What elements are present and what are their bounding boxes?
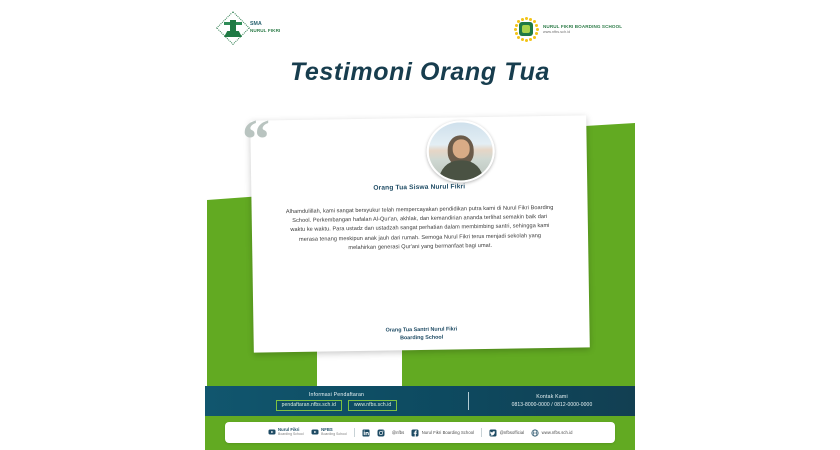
- social-handle-instagram[interactable]: @nfbs: [392, 430, 404, 435]
- testimonial-body-text: Alhamdulillah, kami sangat bersyukur tel…: [286, 204, 555, 254]
- social-item-facebook[interactable]: Nurul Fikri Boarding School: [411, 429, 474, 437]
- social-item-website[interactable]: www.nfbs.sch.id: [531, 429, 572, 437]
- contact-bar: Informasi Pendaftaran pendaftaran.nfbs.s…: [205, 386, 635, 416]
- contact-right-label: Kontak Kami: [477, 394, 627, 400]
- logo-sma-nurul-fikri: SMA NURUL FIKRI: [220, 15, 280, 41]
- header-logo-row: SMA NURUL FIKRI NURUL FIKRI BO: [205, 12, 635, 46]
- social-divider-1: [354, 428, 355, 437]
- testimonial-card: Orang Tua Siswa Nurul Fikri Alhamdulilla…: [250, 115, 590, 352]
- instagram-icon[interactable]: [377, 429, 385, 437]
- testimonial-author-name: Orang Tua Siswa Nurul Fikri: [251, 181, 587, 193]
- social-item-twitter[interactable]: @nfbsofficial: [489, 429, 524, 437]
- social-handle-website: www.nfbs.sch.id: [542, 430, 573, 435]
- logo-left-text: SMA NURUL FIKRI: [250, 22, 280, 33]
- contact-left-label: Informasi Pendaftaran: [213, 392, 460, 398]
- social-divider-2: [481, 428, 482, 437]
- logo-left-line2: NURUL FIKRI: [250, 28, 280, 33]
- logo-right-line2: www.nfbs.sch.id: [543, 30, 622, 34]
- linkedin-icon[interactable]: [362, 429, 370, 437]
- social-item-youtube-2[interactable]: NFBS Boarding School: [311, 428, 347, 437]
- contact-chip-website[interactable]: www.nfbs.sch.id: [348, 400, 397, 411]
- logo-right-text: NURUL FIKRI BOARDING SCHOOL www.nfbs.sch…: [543, 24, 622, 33]
- youtube-icon: [311, 428, 319, 436]
- web-icon: [531, 429, 539, 437]
- social-handle-facebook: Nurul Fikri Boarding School: [422, 430, 474, 435]
- page-title: Testimoni Orang Tua: [205, 58, 635, 87]
- social-sub-0: Boarding School: [278, 433, 304, 437]
- sunburst-logo-icon: [513, 16, 539, 42]
- youtube-icon: [268, 428, 276, 436]
- logo-nfbs: NURUL FIKRI BOARDING SCHOOL www.nfbs.sch…: [513, 16, 622, 42]
- quote-mark-icon: “: [242, 112, 270, 168]
- social-bar: Nurul Fikri Boarding School NFBS Boardin…: [225, 422, 615, 443]
- contact-right-group: Kontak Kami 0813-8000-0000 / 0812-0000-0…: [477, 394, 635, 408]
- screenshot-canvas: SMA NURUL FIKRI NURUL FIKRI BO: [0, 0, 840, 450]
- testimonial-poster: SMA NURUL FIKRI NURUL FIKRI BO: [205, 0, 635, 450]
- avatar: [426, 120, 495, 183]
- social-sub-1: Boarding School: [321, 433, 347, 437]
- social-handle-twitter: @nfbsofficial: [500, 430, 525, 435]
- contact-left-group: Informasi Pendaftaran pendaftaran.nfbs.s…: [205, 392, 460, 411]
- social-item-youtube-1[interactable]: Nurul Fikri Boarding School: [268, 428, 304, 437]
- contact-chip-registration[interactable]: pendaftaran.nfbs.sch.id: [276, 400, 342, 411]
- contact-link-chips: pendaftaran.nfbs.sch.id www.nfbs.sch.id: [213, 400, 460, 411]
- facebook-icon: [411, 429, 419, 437]
- testimonial-signature: Orang Tua Santri Nurul Fikri Boarding Sc…: [253, 323, 589, 344]
- contact-right-value: 0813-8000-0000 / 0812-0000-0000: [477, 402, 627, 408]
- contact-divider: [468, 392, 469, 410]
- tree-diamond-logo-icon: [220, 15, 246, 41]
- twitter-icon: [489, 429, 497, 437]
